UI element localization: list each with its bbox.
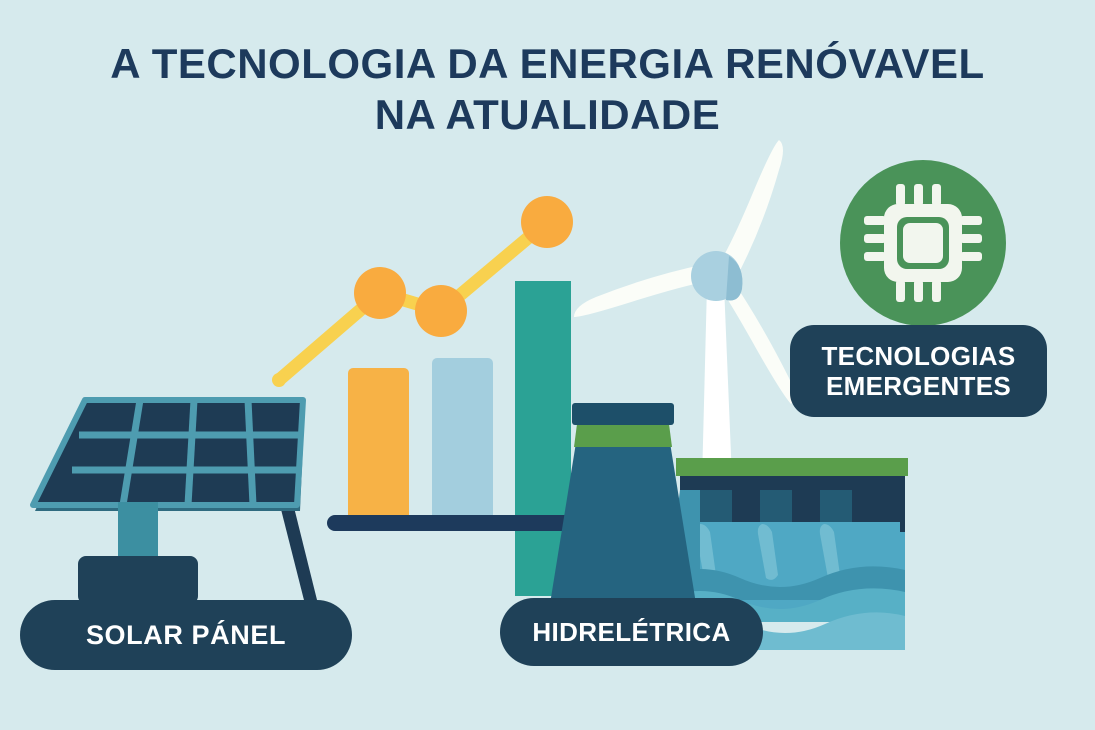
line-marker-2 [415,285,467,337]
label-tech-line-2: EMERGENTES [826,371,1011,401]
chart-bar-2 [432,358,493,526]
chart-baseline [327,515,577,531]
line-marker-1 [354,267,406,319]
label-solar-panel[interactable]: SOLAR PÁNEL [20,600,352,670]
tech-badge-circle [840,160,1006,326]
line-marker-3 [521,196,573,248]
label-tech-line-1: TECNOLOGIAS [822,341,1016,371]
label-hidreletrica-text: HIDRELÉTRICA [532,617,730,648]
infographic-poster: A TECNOLOGIA DA ENERGIA RENÓVAVEL NA ATU… [0,0,1095,730]
line-marker-start [272,373,286,387]
label-hidreletrica[interactable]: HIDRELÉTRICA [500,598,763,666]
label-tecnologias-emergentes[interactable]: TECNOLOGIAS EMERGENTES [790,325,1047,417]
chart-bar-1 [348,368,409,526]
label-solar-panel-text: SOLAR PÁNEL [86,620,286,651]
